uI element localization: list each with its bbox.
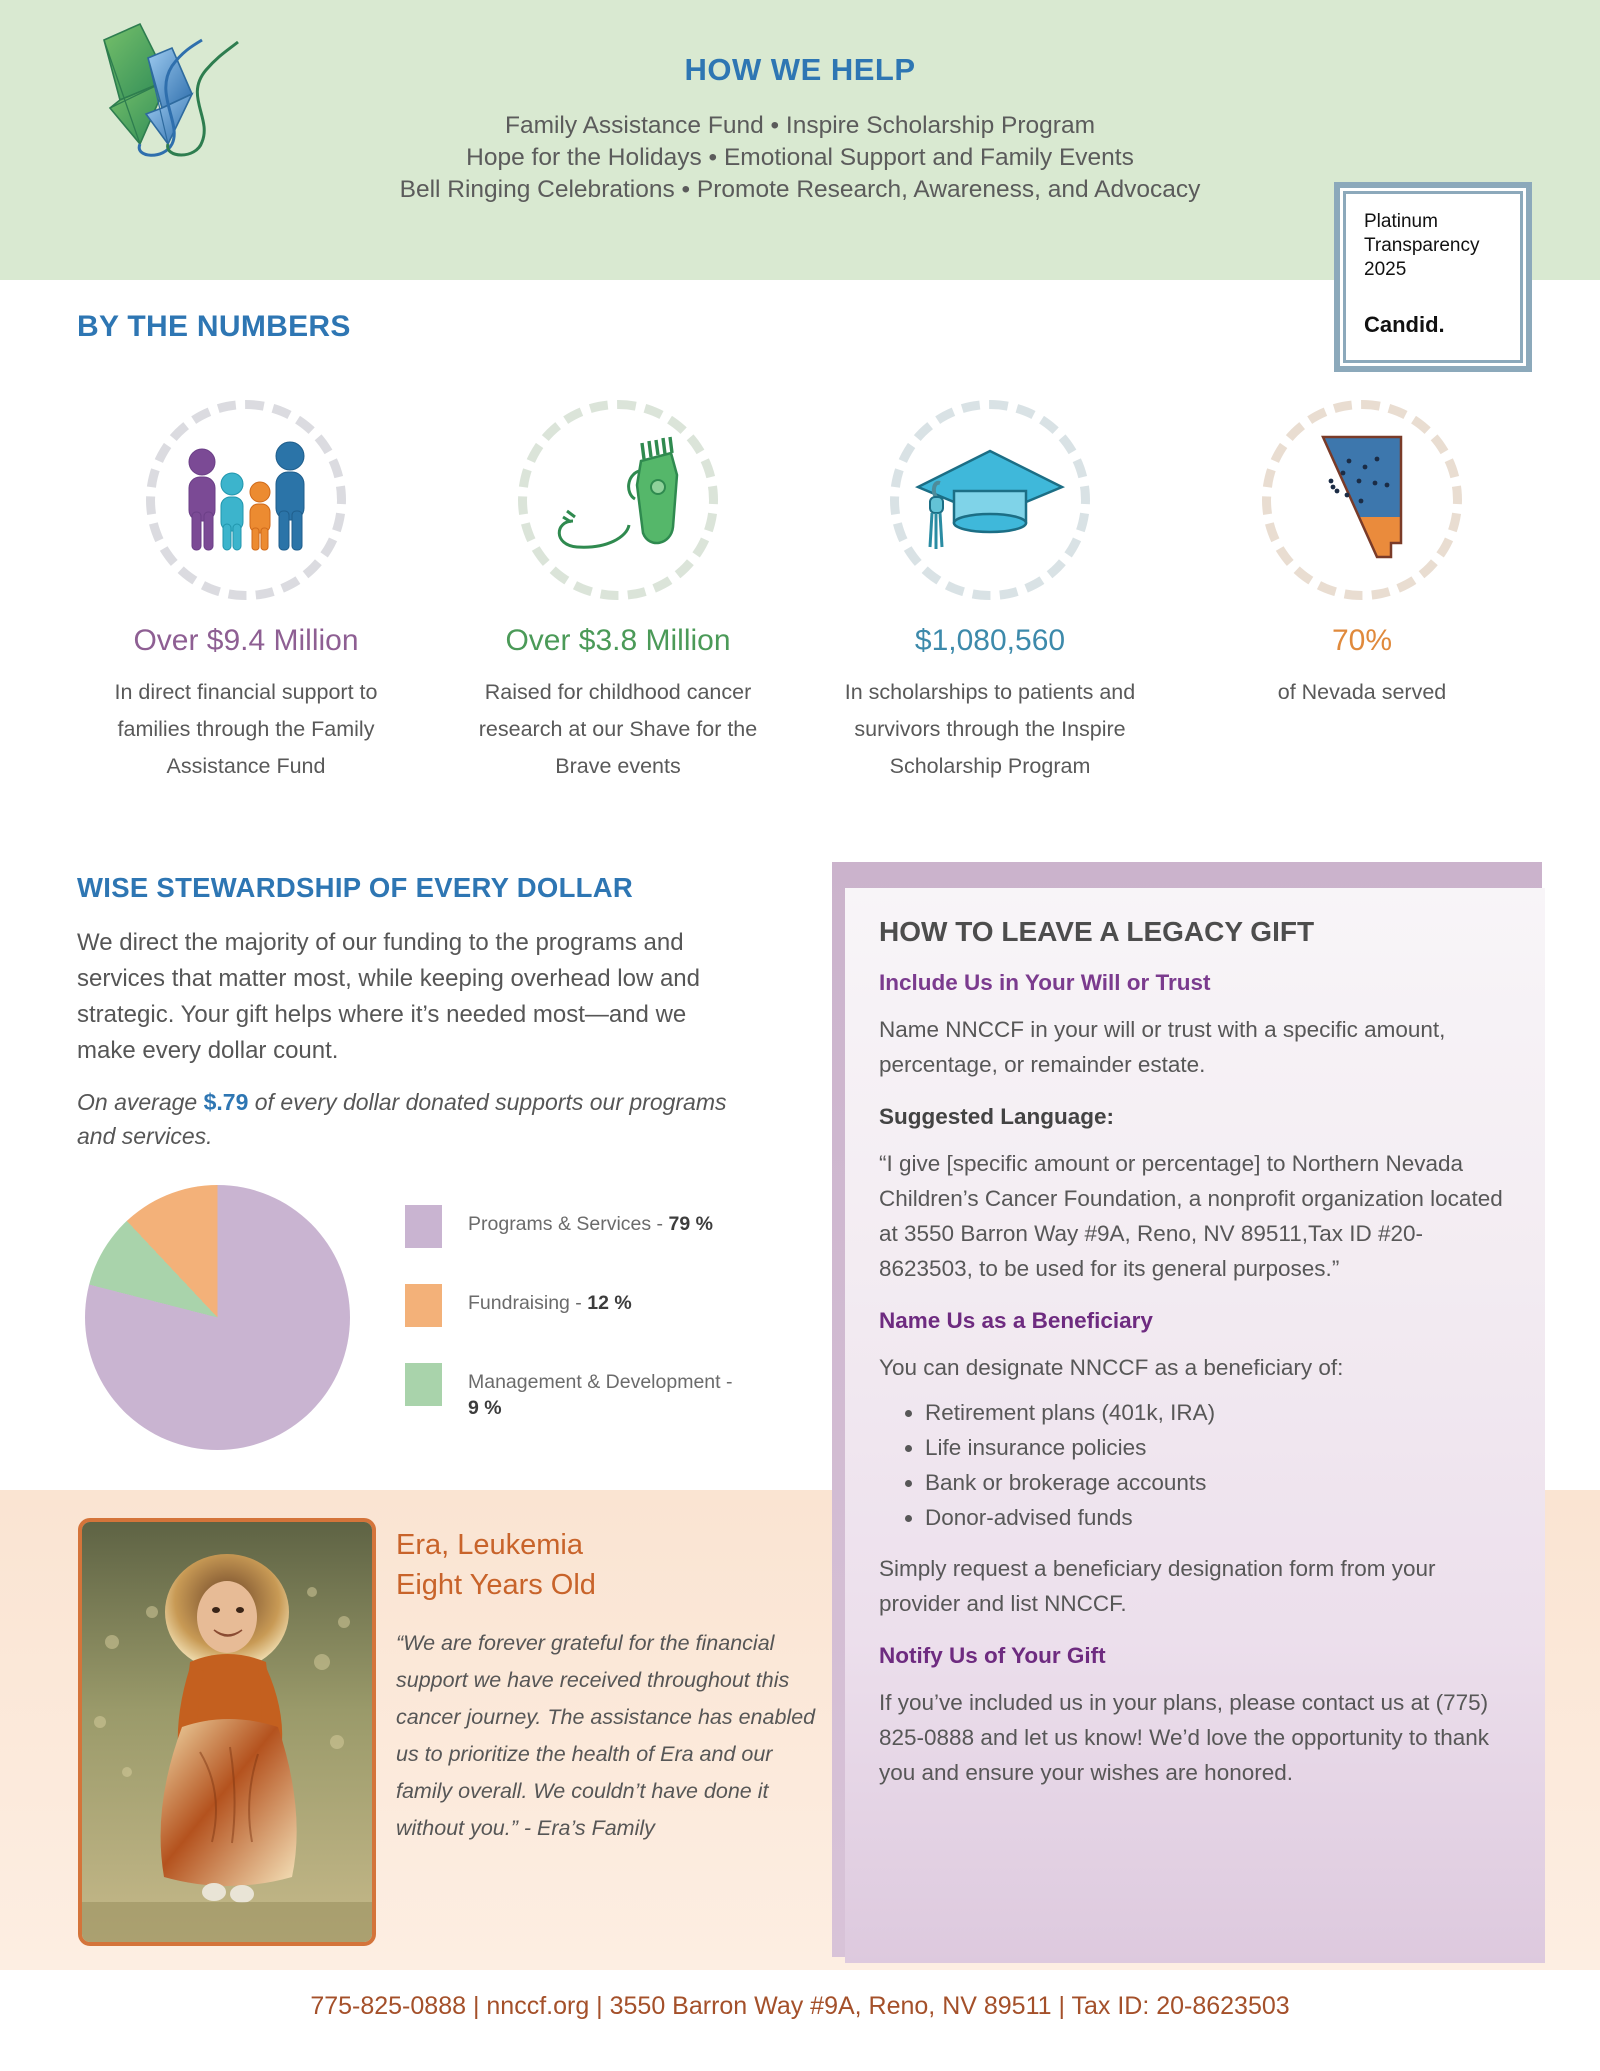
donation-pie-chart — [85, 1185, 350, 1450]
header-center: HOW WE HELP Family Assistance Fund • Ins… — [330, 52, 1270, 206]
stat-value: Over $9.4 Million — [60, 624, 432, 658]
legend-swatch — [405, 1363, 442, 1406]
legend-label-text: Fundraising - — [468, 1292, 587, 1314]
stat-card: $1,080,560 In scholarships to patients a… — [804, 400, 1176, 785]
legacy-section2-footer: Simply request a beneficiary designation… — [879, 1551, 1511, 1621]
legend-text: Management & Development - 9 % — [468, 1363, 735, 1421]
list-item: Bank or brokerage accounts — [925, 1465, 1511, 1500]
legend-value: 12 % — [587, 1292, 631, 1314]
list-item: Retirement plans (401k, IRA) — [925, 1395, 1511, 1430]
page-title: HOW WE HELP — [330, 52, 1270, 88]
note-prefix: On average — [77, 1089, 204, 1115]
stat-icon-wrap — [890, 400, 1090, 600]
legend-item: Programs & Services - 79 % — [405, 1205, 735, 1248]
legacy-section1-body: Name NNCCF in your will or trust with a … — [879, 1012, 1511, 1082]
by-the-numbers-title: BY THE NUMBERS — [77, 310, 351, 344]
stats-row: Over $9.4 Million In direct financial su… — [60, 400, 1550, 785]
stat-description: Raised for childhood cancer research at … — [432, 674, 804, 785]
stat-icon-wrap — [146, 400, 346, 600]
legacy-section3-body: If you’ve included us in your plans, ple… — [879, 1685, 1511, 1790]
dashed-ring-icon — [890, 400, 1090, 600]
legend-value: 9 % — [468, 1397, 502, 1419]
legacy-title: HOW TO LEAVE A LEGACY GIFT — [879, 916, 1511, 948]
pie-legend: Programs & Services - 79 % Fundraising -… — [405, 1205, 735, 1457]
stat-value: $1,080,560 — [804, 624, 1176, 658]
badge-line-2: Transparency — [1364, 234, 1520, 258]
candid-badge-inner: Platinum Transparency 2025 Candid. — [1340, 188, 1526, 366]
list-item: Life insurance policies — [925, 1430, 1511, 1465]
stat-icon-wrap — [518, 400, 718, 600]
legend-item: Fundraising - 12 % — [405, 1284, 735, 1327]
legend-swatch — [405, 1284, 442, 1327]
suggested-language-label: Suggested Language: — [879, 1104, 1511, 1130]
stat-description: of Nevada served — [1176, 674, 1548, 711]
stewardship-title: WISE STEWARDSHIP OF EVERY DOLLAR — [77, 872, 633, 904]
testimonial-name: Era, Leukemia Eight Years Old — [396, 1525, 816, 1605]
dashed-ring-icon — [146, 400, 346, 600]
beneficiary-list: Retirement plans (401k, IRA) Life insura… — [879, 1395, 1511, 1535]
legacy-section2-body: You can designate NNCCF as a beneficiary… — [879, 1350, 1511, 1385]
note-amount: $.79 — [204, 1089, 249, 1115]
legend-value: 79 % — [668, 1213, 712, 1235]
testimonial-quote: “We are forever grateful for the financi… — [396, 1625, 816, 1847]
footer-contact: 775-825-0888 | nnccf.org | 3550 Barron W… — [0, 1992, 1600, 2021]
era-photo-frame — [78, 1518, 376, 1946]
legacy-section2-heading: Name Us as a Beneficiary — [879, 1308, 1511, 1334]
legend-swatch — [405, 1205, 442, 1248]
legend-text: Programs & Services - 79 % — [468, 1205, 713, 1237]
legend-label-text: Programs & Services - — [468, 1213, 668, 1235]
legend-text: Fundraising - 12 % — [468, 1284, 632, 1316]
list-item: Donor-advised funds — [925, 1500, 1511, 1535]
suggested-language-quote: “I give [specific amount or percentage] … — [879, 1146, 1511, 1286]
testimonial-name-line1: Era, Leukemia — [396, 1525, 816, 1565]
badge-line-1: Platinum — [1364, 210, 1520, 234]
program-line-3: Bell Ringing Celebrations • Promote Rese… — [330, 174, 1270, 206]
pie-graphic — [85, 1185, 350, 1450]
dashed-ring-icon — [518, 400, 718, 600]
stat-card: Over $9.4 Million In direct financial su… — [60, 400, 432, 785]
era-photo — [82, 1522, 372, 1942]
legend-item: Management & Development - 9 % — [405, 1363, 735, 1421]
stat-card: Over $3.8 Million Raised for childhood c… — [432, 400, 804, 785]
badge-brand: Candid. — [1364, 312, 1520, 338]
stat-value: Over $3.8 Million — [432, 624, 804, 658]
program-line-2: Hope for the Holidays • Emotional Suppor… — [330, 142, 1270, 174]
program-line-1: Family Assistance Fund • Inspire Scholar… — [330, 110, 1270, 142]
badge-line-3: 2025 — [1364, 258, 1520, 282]
legacy-section1-heading: Include Us in Your Will or Trust — [879, 970, 1511, 996]
stat-card: 70% of Nevada served — [1176, 400, 1548, 785]
legacy-gift-panel: HOW TO LEAVE A LEGACY GIFT Include Us in… — [845, 888, 1545, 1963]
stewardship-body: We direct the majority of our funding to… — [77, 925, 737, 1069]
stat-description: In scholarships to patients and survivor… — [804, 674, 1176, 785]
candid-transparency-badge: Platinum Transparency 2025 Candid. — [1334, 182, 1532, 372]
testimonial-name-line2: Eight Years Old — [396, 1565, 816, 1605]
stat-description: In direct financial support to families … — [60, 674, 432, 785]
stat-icon-wrap — [1262, 400, 1462, 600]
dashed-ring-icon — [1262, 400, 1462, 600]
legend-label-text: Management & Development - — [468, 1371, 732, 1393]
candid-badge-content: Platinum Transparency 2025 Candid. — [1346, 194, 1520, 360]
stat-value: 70% — [1176, 624, 1548, 658]
stewardship-note: On average $.79 of every dollar donated … — [77, 1085, 737, 1153]
legacy-section3-heading: Notify Us of Your Gift — [879, 1643, 1511, 1669]
